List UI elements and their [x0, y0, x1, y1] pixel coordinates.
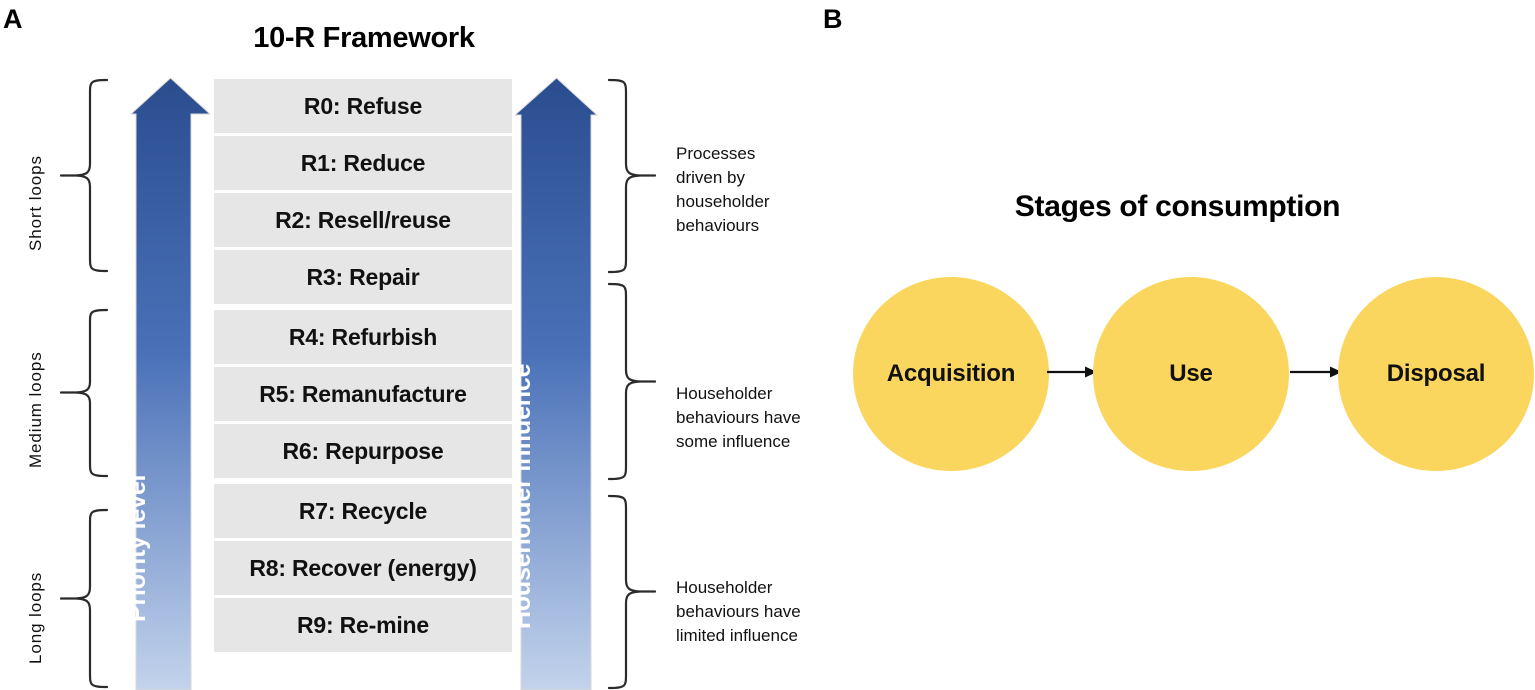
annotation-brace-1	[608, 78, 656, 274]
stage-circle-disposal[interactable]: Disposal	[1338, 277, 1534, 471]
annotation-text-1: Processes driven by householder behaviou…	[676, 142, 806, 239]
medium-loops-brace	[60, 308, 108, 478]
panel-a: A 10-R Framework Priority level	[0, 0, 820, 690]
r-group-short: R0: Refuse R1: Reduce R2: Resell/reuse R…	[214, 79, 512, 304]
annotation-brace-3	[608, 494, 656, 690]
stages-title: Stages of consumption	[820, 190, 1535, 224]
short-loops-brace	[60, 78, 108, 273]
r-step-box[interactable]: R4: Refurbish	[214, 310, 512, 364]
r-step-box[interactable]: R6: Repurpose	[214, 424, 512, 478]
householder-influence-label: Householder influence	[508, 364, 537, 629]
loop-label-short: Short loops	[26, 155, 46, 251]
r-group-medium: R4: Refurbish R5: Remanufacture R6: Repu…	[214, 310, 512, 478]
r-step-box[interactable]: R7: Recycle	[214, 484, 512, 538]
r-steps-list: R0: Refuse R1: Reduce R2: Resell/reuse R…	[214, 79, 512, 652]
long-loops-brace	[60, 508, 108, 690]
framework-title: 10-R Framework	[214, 22, 514, 55]
panel-a-letter: A	[3, 6, 23, 33]
annotation-text-2: Householder behaviours have some influen…	[676, 382, 806, 454]
priority-level-label: Priority level	[123, 475, 152, 622]
stage-label: Acquisition	[887, 360, 1015, 388]
loop-label-medium: Medium loops	[26, 351, 46, 468]
stage-circle-use[interactable]: Use	[1093, 277, 1289, 471]
r-group-long: R7: Recycle R8: Recover (energy) R9: Re-…	[214, 484, 512, 652]
r-step-box[interactable]: R9: Re-mine	[214, 598, 512, 652]
stage-label: Use	[1169, 360, 1212, 388]
flow-arrow-icon	[1290, 364, 1342, 380]
r-step-box[interactable]: R8: Recover (energy)	[214, 541, 512, 595]
annotation-brace-2	[608, 282, 656, 482]
r-step-box[interactable]: R0: Refuse	[214, 79, 512, 133]
panel-b: B Stages of consumption Acquisition Use …	[820, 0, 1535, 690]
stage-label: Disposal	[1387, 360, 1485, 388]
flow-arrow-icon	[1047, 364, 1097, 380]
r-step-box[interactable]: R2: Resell/reuse	[214, 193, 512, 247]
r-step-box[interactable]: R3: Repair	[214, 250, 512, 304]
loop-label-long: Long loops	[26, 572, 46, 664]
r-step-box[interactable]: R1: Reduce	[214, 136, 512, 190]
r-step-box[interactable]: R5: Remanufacture	[214, 367, 512, 421]
annotation-text-3: Householder behaviours have limited infl…	[676, 576, 806, 648]
panel-b-letter: B	[823, 6, 843, 33]
stage-circle-acquisition[interactable]: Acquisition	[853, 277, 1049, 471]
